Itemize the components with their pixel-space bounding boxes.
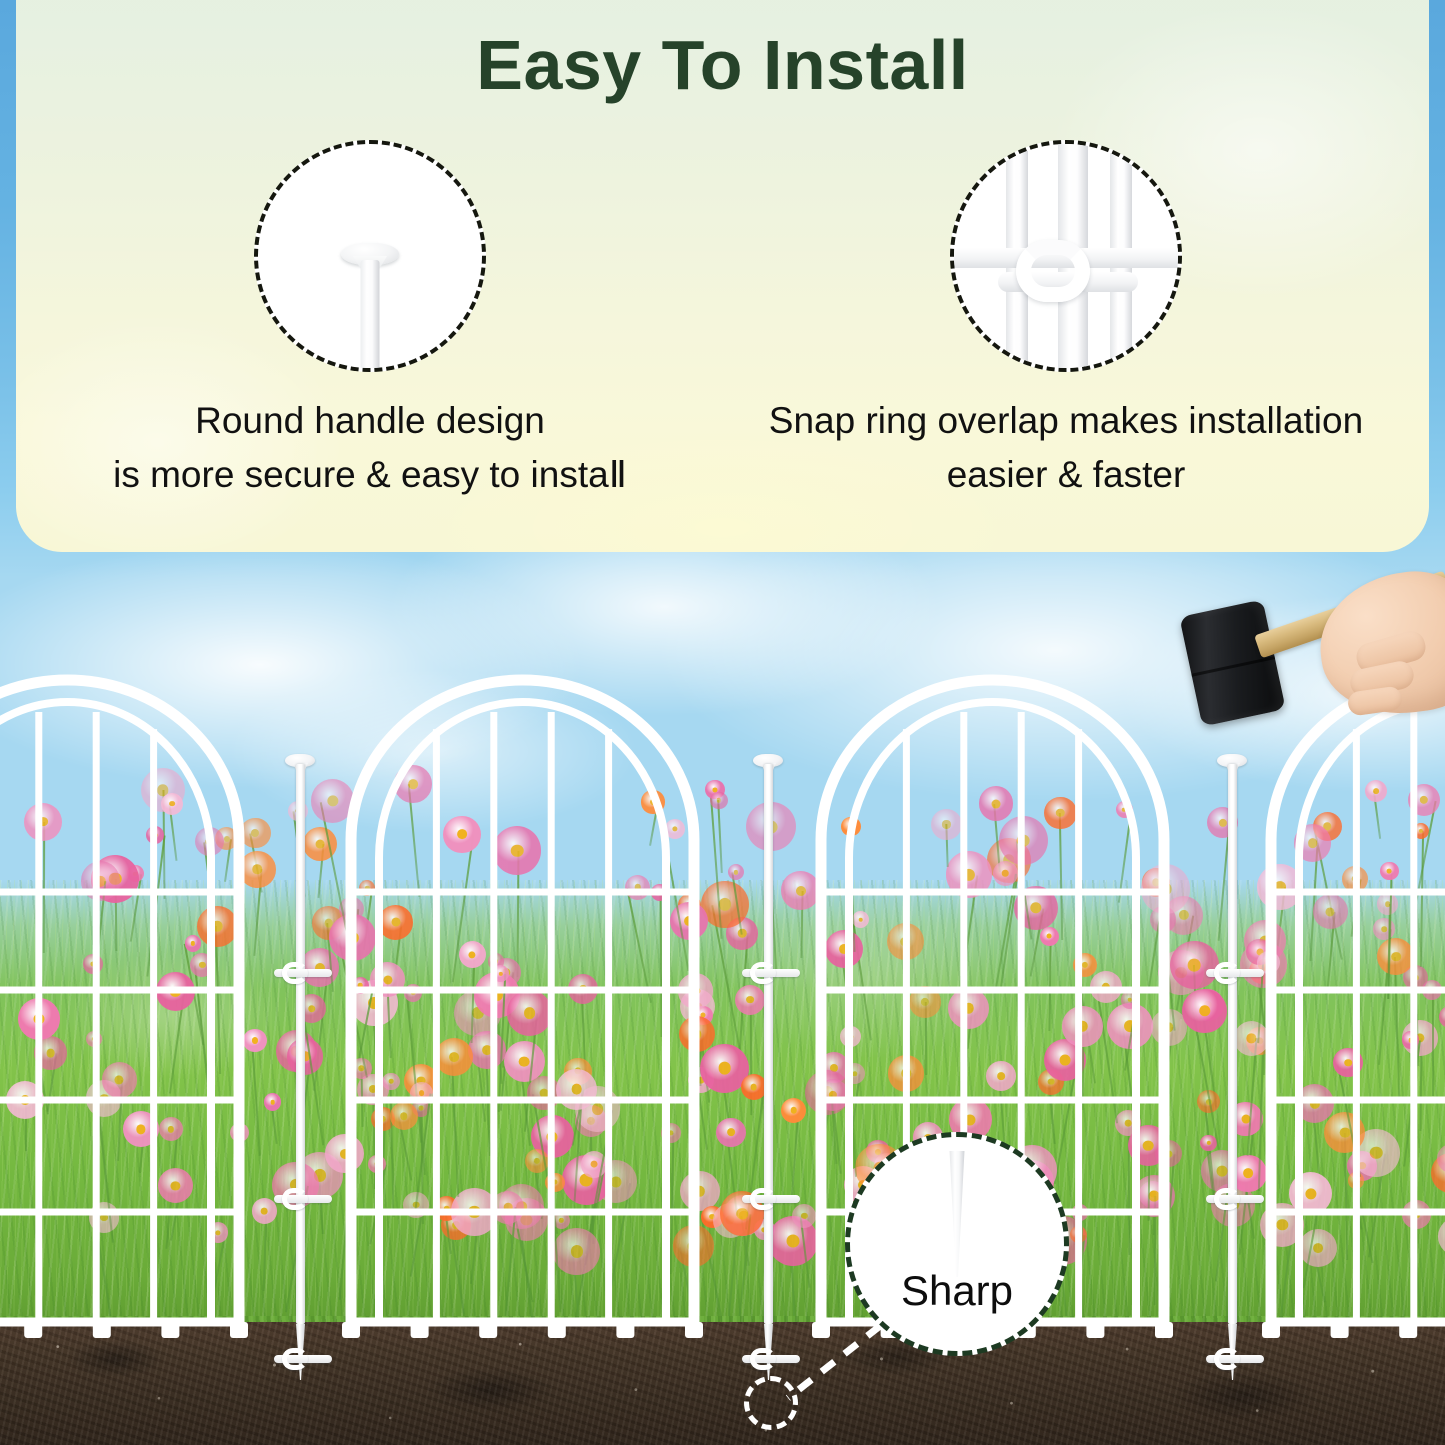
mallet-and-hand: [1150, 565, 1445, 765]
snap-ring-overlap-icon: [282, 1348, 308, 1370]
snap-ring-clip: [274, 1346, 332, 1372]
stake-tip-highlight-circle: [744, 1376, 798, 1430]
fence-panel: [0, 660, 245, 1360]
snap-ring-clip: [1206, 1346, 1264, 1372]
fence-panel: [1265, 660, 1445, 1360]
snap-ring-overlap-icon: [750, 1348, 776, 1370]
feature-caption: Snap ring overlap makes installation eas…: [716, 394, 1416, 501]
snap-ring-clip: [1206, 1186, 1264, 1212]
snap-ring-clip: [742, 1186, 800, 1212]
snap-ring-overlap-icon: [1214, 1348, 1240, 1370]
snap-ring-overlap-icon: [750, 1188, 776, 1210]
feature-snap-ring: Snap ring overlap makes installation eas…: [716, 140, 1416, 501]
caption-line-2: is more secure & easy to instaⅡ: [113, 454, 627, 495]
caption-line-2: easier & faster: [947, 454, 1186, 495]
snap-ring-clip: [742, 1346, 800, 1372]
snap-ring-overlap-icon: [282, 962, 308, 984]
feature-round-handle: Round handle design is more secure & eas…: [40, 140, 700, 501]
sharp-label: Sharp: [850, 1267, 1064, 1315]
stake-shaft: [1228, 764, 1237, 1324]
snap-ring-overlap-icon: [1214, 1188, 1240, 1210]
snap-ring-overlap-icon: [1214, 962, 1240, 984]
fence-panel: [345, 660, 700, 1360]
snap-ring-clip: [742, 960, 800, 986]
stake-shaft: [296, 764, 305, 1324]
caption-line-1: Round handle design: [195, 400, 545, 441]
snap-ring-clip: [274, 960, 332, 986]
mallet-head-icon: [1179, 599, 1285, 726]
fence-stake: [760, 748, 776, 1368]
snap-ring-overlap-icon: [1016, 240, 1090, 302]
round-handle-circle: [254, 140, 486, 372]
stake-shaft: [361, 260, 380, 372]
caption-line-1: Snap ring overlap makes installation: [769, 400, 1363, 441]
infographic-stage: Sharp Easy To Install Round handle desig…: [0, 0, 1445, 1445]
sharp-stake-tip-icon: [949, 1151, 966, 1277]
sharp-callout: Sharp: [845, 1132, 1069, 1356]
fence-assembly: [0, 660, 1445, 1360]
snap-ring-clip: [1206, 960, 1264, 986]
snap-ring-circle: [950, 140, 1182, 372]
feature-caption: Round handle design is more secure & eas…: [40, 394, 700, 501]
page-title: Easy To Install: [16, 30, 1429, 100]
feature-panel: Easy To Install Round handle design is m…: [16, 0, 1429, 552]
snap-ring-clip: [274, 1186, 332, 1212]
snap-ring-overlap-icon: [750, 962, 776, 984]
fence-stake: [1224, 748, 1240, 1368]
fence-stake: [292, 748, 308, 1368]
stake-shaft: [764, 764, 773, 1324]
snap-ring-overlap-icon: [282, 1188, 308, 1210]
